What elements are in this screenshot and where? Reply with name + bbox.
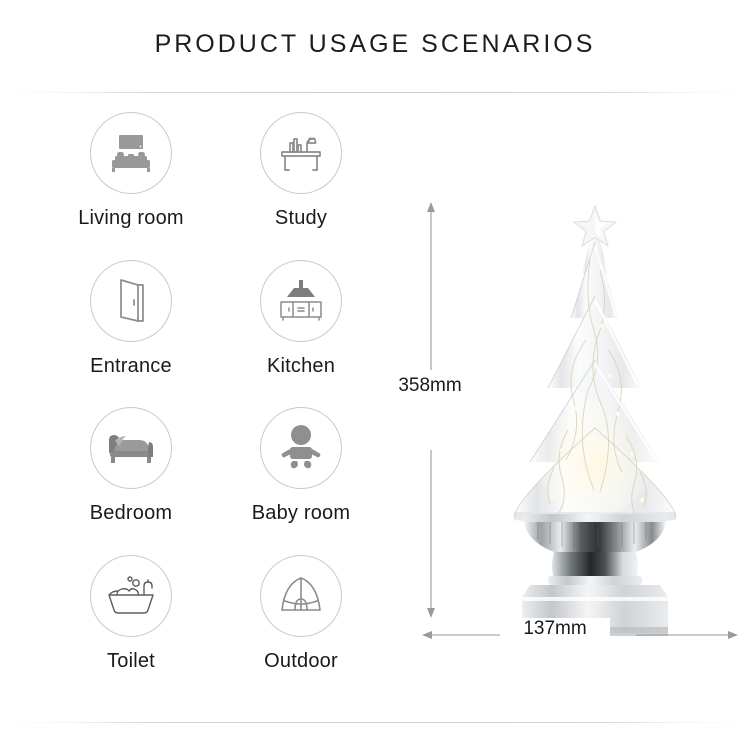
dimension-line-vertical <box>421 200 441 620</box>
dimension-width-label: 137mm <box>500 618 610 640</box>
scenario-item-toilet[interactable]: Toilet <box>46 555 216 703</box>
tent-icon <box>275 574 327 618</box>
scenario-item-outdoor[interactable]: Outdoor <box>216 555 386 703</box>
living-room-icon <box>106 132 156 174</box>
scenario-icon-circle <box>260 407 342 489</box>
scenario-item-study[interactable]: Study <box>216 112 386 260</box>
arrow-right-icon <box>728 631 738 639</box>
bed-icon <box>105 428 157 468</box>
scenario-icon-circle <box>260 555 342 637</box>
scenario-label: Baby room <box>252 502 351 525</box>
page-title: PRODUCT USAGE SCENARIOS <box>0 30 750 59</box>
scenario-item-entrance[interactable]: Entrance <box>46 260 216 408</box>
scenario-icon-circle <box>260 260 342 342</box>
divider-top <box>0 92 750 93</box>
divider-bottom <box>0 722 750 723</box>
scenario-icon-circle <box>90 555 172 637</box>
scenario-label: Outdoor <box>264 650 338 673</box>
scenario-label: Kitchen <box>267 355 335 378</box>
scenario-icon-circle <box>90 407 172 489</box>
arrow-left-icon <box>422 631 432 639</box>
dimension-height-label: 358mm <box>382 375 478 397</box>
study-desk-icon <box>276 131 326 175</box>
open-door-icon <box>109 276 153 326</box>
scenario-label: Study <box>275 207 327 230</box>
arrow-up-icon <box>427 202 435 212</box>
scenario-item-baby-room[interactable]: Baby room <box>216 407 386 555</box>
scenario-label: Bedroom <box>90 502 173 525</box>
baby-icon <box>278 424 324 472</box>
arrow-down-icon <box>427 608 435 618</box>
scenario-icon-circle <box>260 112 342 194</box>
scenario-label: Entrance <box>90 355 172 378</box>
scenario-item-kitchen[interactable]: Kitchen <box>216 260 386 408</box>
product-showcase: 358mm 137mm <box>390 100 750 700</box>
product-infographic-page: PRODUCT USAGE SCENARIOS Living room <box>0 0 750 750</box>
bathtub-icon <box>104 574 158 618</box>
kitchen-range-hood-icon <box>275 278 327 324</box>
usage-scenario-grid: Living room Study <box>46 112 386 702</box>
scenario-icon-circle <box>90 112 172 194</box>
scenario-label: Living room <box>78 207 184 230</box>
scenario-item-living-room[interactable]: Living room <box>46 112 216 260</box>
scenario-icon-circle <box>90 260 172 342</box>
scenario-item-bedroom[interactable]: Bedroom <box>46 407 216 555</box>
scenario-label: Toilet <box>107 650 155 673</box>
